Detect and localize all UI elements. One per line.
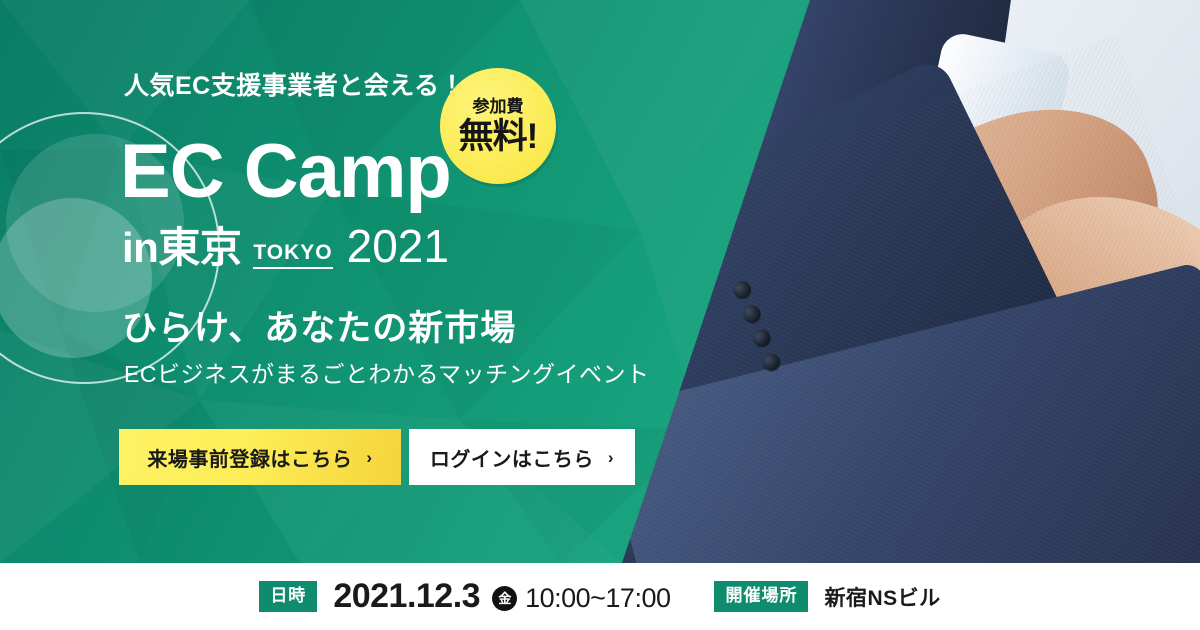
event-year: 2021	[347, 219, 449, 273]
venue-name: 新宿NSビル	[824, 582, 940, 612]
cta-button-row: 来場事前登録はこちら › ログインはこちら ›	[119, 429, 635, 485]
login-button[interactable]: ログインはこちら ›	[409, 429, 635, 485]
event-info-bar: 日時 2021.12.3金10:00~17:00 開催場所 新宿NSビル	[0, 563, 1200, 630]
badge-fee-label: 参加費	[473, 98, 524, 115]
hero-lead-text: ECビジネスがまるごとわかるマッチングイベント	[124, 355, 650, 389]
preregister-button[interactable]: 来場事前登録はこちら ›	[119, 429, 401, 485]
venue-chip-label: 開催場所	[714, 581, 808, 612]
hero-section: 人気EC支援事業者と会える！ EC Camp in東京 TOKYO 2021 ひ…	[0, 0, 1200, 563]
chevron-right-icon: ›	[366, 449, 372, 466]
hero-content: 人気EC支援事業者と会える！ EC Camp in東京 TOKYO 2021 ひ…	[0, 0, 1200, 563]
event-location-jp: in東京	[122, 214, 241, 275]
hero-tagline: 人気EC支援事業者と会える！	[124, 66, 465, 102]
event-time: 10:00~17:00	[525, 583, 670, 613]
badge-free-label: 無料!	[459, 119, 538, 154]
login-button-label: ログインはこちら	[430, 443, 594, 472]
event-banner: 人気EC支援事業者と会える！ EC Camp in東京 TOKYO 2021 ひ…	[0, 0, 1200, 630]
hero-catchcopy: ひらけ、あなたの新市場	[122, 300, 516, 351]
event-date: 2021.12.3金10:00~17:00	[333, 579, 670, 615]
free-admission-badge: 参加費 無料!	[440, 68, 556, 184]
date-chip-label: 日時	[259, 581, 317, 612]
venue-group: 開催場所 新宿NSビル	[714, 581, 940, 612]
event-date-value: 2021.12.3	[333, 577, 480, 615]
event-title: EC Camp	[120, 134, 451, 210]
day-of-week-badge: 金	[492, 586, 517, 611]
event-subtitle-line: in東京 TOKYO 2021	[122, 214, 449, 275]
date-group: 日時 2021.12.3金10:00~17:00	[259, 579, 670, 615]
preregister-button-label: 来場事前登録はこちら	[147, 443, 352, 472]
event-location-en: TOKYO	[253, 241, 332, 269]
chevron-right-icon: ›	[608, 449, 614, 466]
